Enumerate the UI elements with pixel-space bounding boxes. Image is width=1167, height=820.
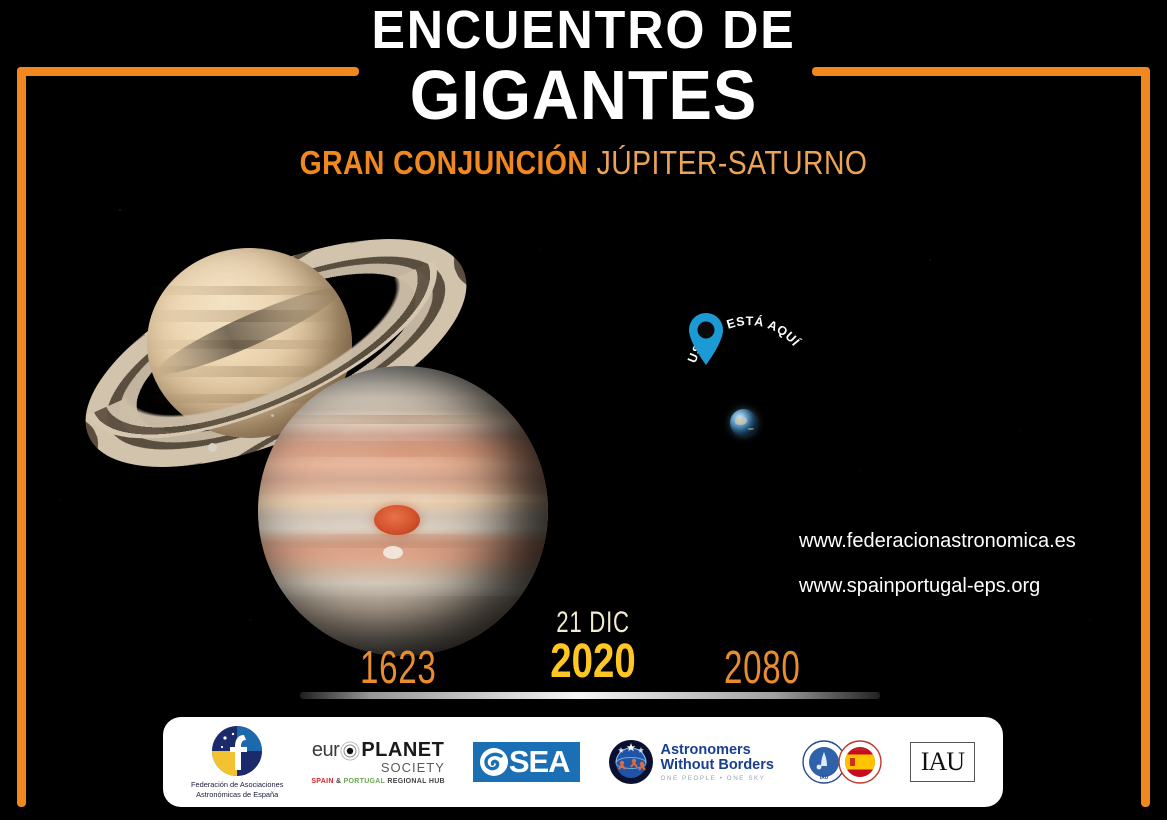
poster-title-line1: ENCUENTRO DE [41, 2, 1126, 58]
spain-seal-text: SPAIN [853, 747, 866, 752]
conjunction-timeline: 1623 21 DIC 2020 2080 [290, 596, 890, 706]
europlanet-society-text: SOCIETY [381, 760, 445, 775]
hub-rest: REGIONAL HUB [385, 778, 445, 785]
awb-globe-icon [608, 739, 654, 785]
timeline-future-year: 2080 [724, 640, 801, 694]
poster-subtitle: GRAN CONJUNCIÓN JÚPITER-SATURNO [82, 144, 1086, 182]
timeline-bar [300, 692, 880, 699]
europlanet-euro-text: eur [312, 739, 339, 762]
logo-iau-spain-committee: IAU SPAIN [802, 740, 882, 784]
hub-spain: SPAIN [311, 778, 333, 785]
logo-sea: SEA [473, 742, 580, 782]
sea-text: SEA [509, 744, 570, 780]
iau-spain-text: IAU [820, 775, 829, 781]
timeline-past-year: 1623 [360, 640, 437, 694]
fae-logo-icon [211, 725, 263, 777]
saturn-moon-icon [208, 443, 217, 452]
earth-icon [730, 409, 757, 436]
url-federacion[interactable]: www.federacionastronomica.es [799, 519, 1076, 564]
timeline-current-year: 2020 [545, 634, 641, 689]
subtitle-strong: GRAN CONJUNCIÓN [300, 144, 589, 181]
logo-federacion-astronomica-espana: Federación de Asociaciones Astronómicas … [191, 725, 283, 799]
sea-spiral-icon [479, 747, 509, 777]
logo-iau: IAU [910, 742, 975, 782]
subtitle-light: JÚPITER-SATURNO [597, 144, 868, 181]
hub-portugal: PORTUGAL [344, 778, 386, 785]
fae-label-line1: Federación de Asociaciones [191, 780, 283, 790]
hub-amp: & [334, 778, 344, 785]
you-are-here-marker: USTED ESTÁ AQUÍ [686, 311, 806, 441]
awb-line1: Astronomers [661, 743, 774, 758]
europlanet-planet-text: PLANET [361, 739, 444, 762]
timeline-current-event: 21 DIC 2020 [533, 606, 653, 689]
title-block: ENCUENTRO DE GIGANTES GRAN CONJUNCIÓN JÚ… [0, 0, 1167, 182]
awb-line2: Without Borders [661, 758, 774, 773]
logo-astronomers-without-borders: Astronomers Without Borders ONE PEOPLE •… [608, 739, 774, 785]
europlanet-ripple-icon [339, 740, 361, 762]
iau-text: IAU [921, 747, 964, 776]
fae-label-line2: Astronómicas de España [191, 790, 283, 800]
awb-tagline: ONE PEOPLE • ONE SKY [661, 775, 774, 782]
map-pin-icon [686, 311, 726, 367]
logo-europlanet-society: eur PLANET SOCIETY SPAIN & PORTUGAL REGI… [311, 739, 445, 785]
poster-root: ENCUENTRO DE GIGANTES GRAN CONJUNCIÓN JÚ… [0, 0, 1167, 820]
europlanet-hub-text: SPAIN & PORTUGAL REGIONAL HUB [311, 778, 445, 785]
spain-flag-seal-icon: SPAIN [838, 740, 882, 784]
sponsor-logo-bar: Federación de Asociaciones Astronómicas … [163, 717, 1003, 807]
poster-title-line2: GIGANTES [41, 58, 1126, 132]
